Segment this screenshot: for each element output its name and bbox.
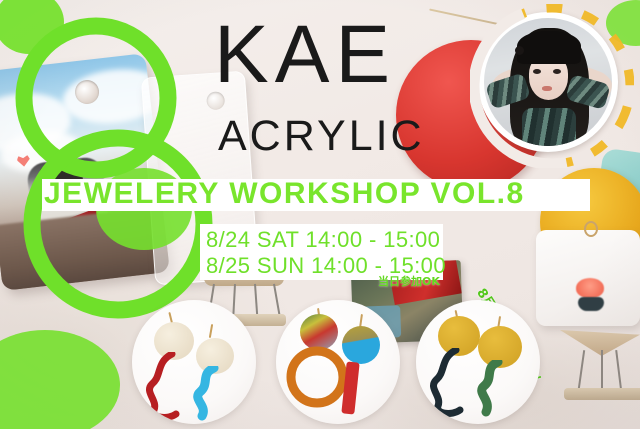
avatar: [478, 12, 618, 152]
schedule-line-1: 8/24 SAT 14:00 - 15:00: [206, 227, 440, 253]
page-title-kae: KAE: [214, 14, 396, 96]
product-circle-3: [416, 300, 540, 424]
product-circle-1: [132, 300, 256, 424]
ring-icon: [515, 46, 524, 55]
workshop-banner-text: JEWELERY WORKSHOP VOL.8: [44, 178, 604, 210]
poster-canvas: KAE ACRYLIC JEWELERY WORKSHOP VOL.8 8/24…: [0, 0, 640, 429]
walk-in-note: 当日参加OK: [378, 275, 440, 288]
page-subtitle-acrylic: ACRYLIC: [218, 114, 425, 158]
artist-portrait: [484, 18, 612, 146]
product-circle-2: [276, 300, 400, 424]
